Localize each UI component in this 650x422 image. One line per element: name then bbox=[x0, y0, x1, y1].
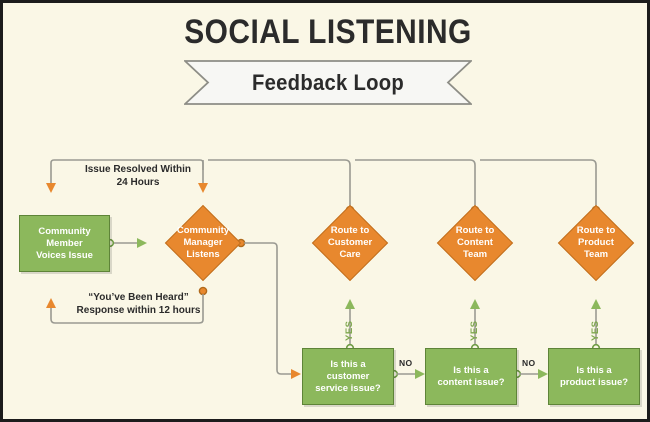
edge-label-heard-line1: “You’ve Been Heard” bbox=[66, 291, 211, 304]
node-community-manager-label: Community Manager Listens bbox=[166, 216, 240, 270]
edge-label-issue-resolved-line1: Issue Resolved Within bbox=[73, 163, 203, 176]
line-1: Route to bbox=[456, 225, 495, 237]
edge-label-heard-line2: Response within 12 hours bbox=[66, 304, 211, 317]
wire-route-customer-up bbox=[208, 160, 350, 210]
node-question-product-label: Is this a product issue? bbox=[560, 365, 628, 389]
node-route-customer-care[interactable]: Route to Customer Care bbox=[323, 216, 377, 270]
infographic-canvas: SOCIAL LISTENING Feedback Loop .wire { f… bbox=[0, 0, 650, 422]
edge-label-no-content: NO bbox=[522, 358, 536, 368]
line-1: Is this a bbox=[560, 365, 628, 377]
arrowhead-to-community-member bbox=[46, 183, 56, 193]
line-1: Community bbox=[177, 225, 229, 237]
wire-route-content-up bbox=[355, 160, 475, 210]
line-2: Product bbox=[577, 237, 616, 249]
arrowhead-yes-customer bbox=[345, 299, 355, 309]
line-1: Route to bbox=[577, 225, 616, 237]
node-question-customer-service[interactable]: Is this a customer service issue? bbox=[302, 348, 394, 405]
line-2: product issue? bbox=[560, 377, 628, 389]
node-question-content[interactable]: Is this a content issue? bbox=[425, 348, 517, 405]
line-1: Community bbox=[36, 226, 93, 238]
node-question-product[interactable]: Is this a product issue? bbox=[548, 348, 640, 405]
line-1: Is this a bbox=[437, 365, 504, 377]
line-2: Customer bbox=[328, 237, 372, 249]
line-2: Member bbox=[36, 238, 93, 250]
edge-label-issue-resolved: Issue Resolved Within 24 Hours bbox=[73, 163, 203, 189]
node-route-content-team[interactable]: Route to Content Team bbox=[448, 216, 502, 270]
node-community-member[interactable]: Community Member Voices Issue bbox=[19, 215, 110, 272]
node-route-product-team[interactable]: Route to Product Team bbox=[569, 216, 623, 270]
wire-route-product-up bbox=[480, 160, 596, 210]
line-3: Team bbox=[456, 249, 495, 261]
node-community-member-label: Community Member Voices Issue bbox=[36, 226, 93, 262]
node-question-customer-service-label: Is this a customer service issue? bbox=[315, 359, 381, 395]
node-question-content-label: Is this a content issue? bbox=[437, 365, 504, 389]
arrowhead-yes-product bbox=[591, 299, 601, 309]
arrowhead-no-to-q2 bbox=[415, 369, 425, 379]
edge-label-yes-product: YES bbox=[590, 320, 601, 341]
edge-label-yes-customer: YES bbox=[344, 320, 355, 341]
arrowhead-heard-to-member bbox=[46, 298, 56, 308]
arrowhead-yes-content bbox=[470, 299, 480, 309]
edge-label-issue-resolved-line2: 24 Hours bbox=[73, 176, 203, 189]
line-2: content issue? bbox=[437, 377, 504, 389]
line-3: service issue? bbox=[315, 383, 381, 395]
line-2: Content bbox=[456, 237, 495, 249]
node-route-customer-care-label: Route to Customer Care bbox=[314, 216, 386, 270]
node-community-manager[interactable]: Community Manager Listens bbox=[176, 216, 230, 270]
line-3: Listens bbox=[177, 249, 229, 261]
arrowhead-to-q1 bbox=[291, 369, 301, 379]
line-2: Manager bbox=[177, 237, 229, 249]
node-route-content-team-label: Route to Content Team bbox=[440, 216, 510, 270]
arrowhead-no-to-q3 bbox=[538, 369, 548, 379]
node-route-product-team-label: Route to Product Team bbox=[561, 216, 631, 270]
line-1: Is this a bbox=[315, 359, 381, 371]
line-3: Care bbox=[328, 249, 372, 261]
edge-label-no-customer: NO bbox=[399, 358, 413, 368]
edge-label-youve-been-heard: “You’ve Been Heard” Response within 12 h… bbox=[66, 291, 211, 317]
line-3: Team bbox=[577, 249, 616, 261]
line-2: customer bbox=[315, 371, 381, 383]
line-1: Route to bbox=[328, 225, 372, 237]
wire-manager-to-q1 bbox=[244, 243, 291, 374]
edge-label-yes-content: YES bbox=[469, 320, 480, 341]
arrowhead-to-manager-left bbox=[137, 238, 147, 248]
line-3: Voices Issue bbox=[36, 250, 93, 262]
